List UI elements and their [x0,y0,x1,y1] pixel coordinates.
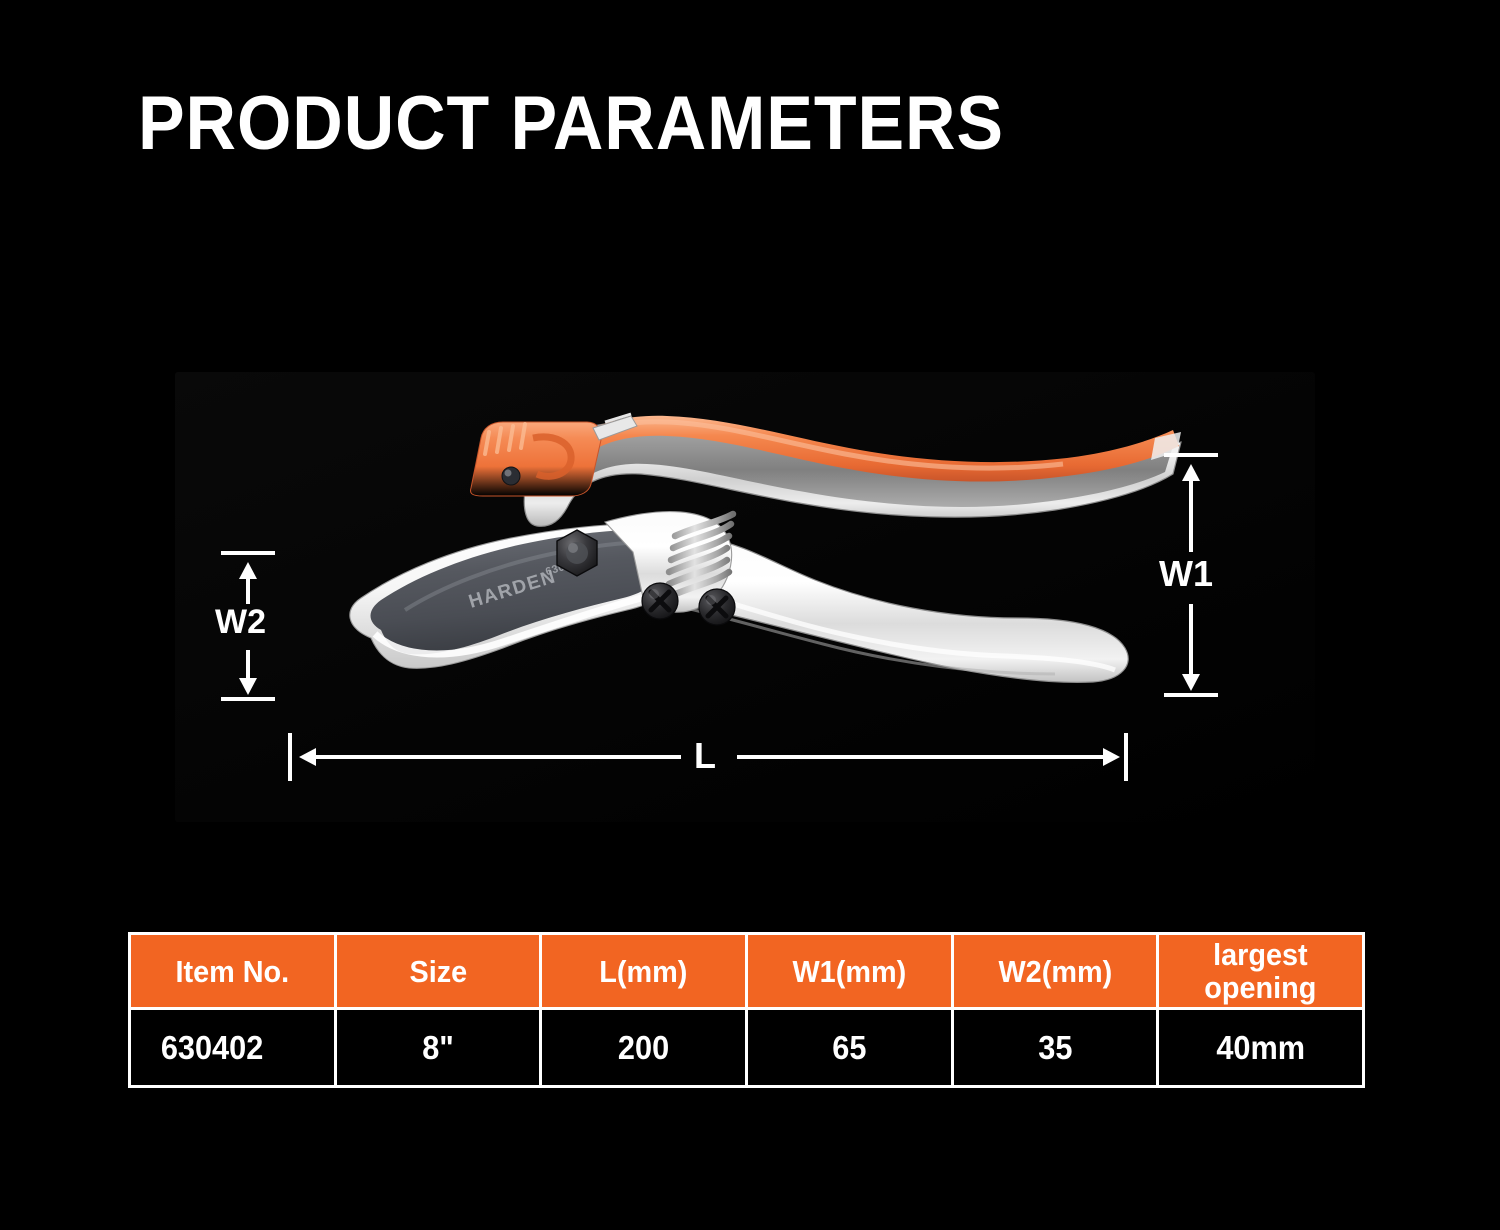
col-header-w2: W2(mm) [952,934,1158,1009]
col-header-largest-opening-line2: opening [1166,971,1355,1004]
w2-top-tick [221,551,275,555]
cell-item-no: 630402 [130,1009,336,1087]
table-row: 630402 8" 200 65 35 40mm [130,1009,1364,1087]
col-header-item-no: Item No. [130,934,336,1009]
cell-w1: 65 [746,1009,952,1087]
col-header-largest-opening: largest opening [1158,934,1364,1009]
page-title: PRODUCT PARAMETERS [138,82,1004,166]
screw-1 [642,583,678,619]
col-header-w1-label: W1(mm) [792,954,906,989]
w1-shaft-upper [1189,478,1193,552]
spec-table-head: Item No. Size L(mm) W1(mm) [130,934,1364,1009]
w2-label: W2 [215,604,266,640]
col-header-size: Size [335,934,541,1009]
col-header-w1: W1(mm) [746,934,952,1009]
col-header-w2-label: W2(mm) [998,954,1112,989]
cell-size: 8" [335,1009,541,1087]
l-label: L [694,738,716,774]
w1-arrowhead-down [1182,674,1200,691]
spec-table: Item No. Size L(mm) W1(mm) [128,932,1365,1088]
l-arrowhead-right [1103,748,1120,766]
pruning-shears-illustration: HARDEN 630402 [275,402,1235,702]
cell-w2: 35 [952,1009,1158,1087]
col-header-largest-opening-line1: largest [1213,937,1308,972]
shears-svg: HARDEN 630402 [275,402,1235,702]
w1-top-tick [1164,453,1218,457]
spec-table-body: 630402 8" 200 65 35 40mm [130,1009,1364,1087]
upper-handle [524,416,1181,526]
l-left-tick [288,733,292,781]
w2-bottom-tick [221,697,275,701]
w2-arrowhead-down [239,678,257,695]
w2-shaft-lower [246,650,250,678]
col-header-length-label: L(mm) [600,954,688,989]
col-header-item-no-label: Item No. [175,954,289,989]
w1-shaft-lower [1189,604,1193,674]
cell-length: 200 [541,1009,747,1087]
cell-largest-opening: 40mm [1158,1009,1364,1087]
l-right-tick [1124,733,1128,781]
w1-bottom-tick [1164,693,1218,697]
col-header-length: L(mm) [541,934,747,1009]
w2-shaft-upper [246,576,250,604]
l-shaft-left [313,755,681,759]
product-parameters-page: PRODUCT PARAMETERS [0,0,1500,1230]
col-header-size-label: Size [409,954,467,989]
table-header-row: Item No. Size L(mm) W1(mm) [130,934,1364,1009]
l-shaft-right [737,755,1103,759]
screw-2 [699,589,735,625]
w1-label: W1 [1159,556,1213,592]
